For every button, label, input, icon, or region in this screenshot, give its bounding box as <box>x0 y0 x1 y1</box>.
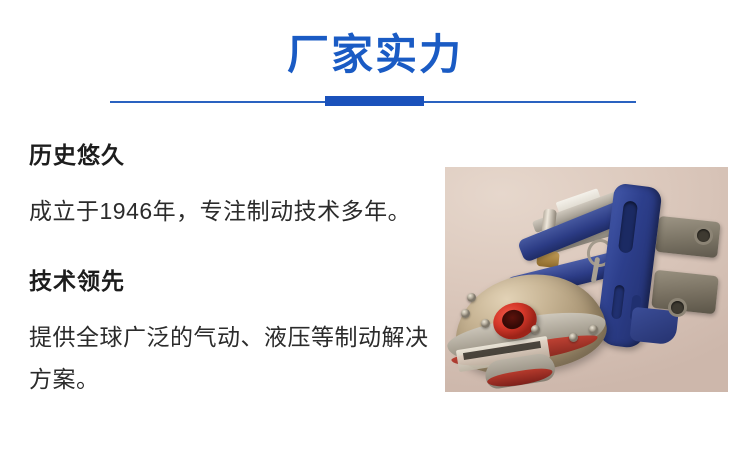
feature-body-technology: 提供全球广泛的气动、液压等制动解决方案。 <box>29 316 444 400</box>
dome-bolt <box>531 325 540 334</box>
feature-block-technology: 技术领先 提供全球广泛的气动、液压等制动解决方案。 <box>29 266 444 400</box>
divider-center-bar <box>325 96 424 106</box>
dome-bolt <box>481 319 490 328</box>
mounting-hole-lower <box>671 301 684 314</box>
mounting-hole-upper <box>697 229 710 242</box>
feature-block-history: 历史悠久 成立于1946年，专注制动技术多年。 <box>29 140 444 232</box>
caliper-mounting-foot <box>629 307 678 346</box>
feature-body-history: 成立于1946年，专注制动技术多年。 <box>29 190 444 232</box>
page-title: 厂家实力 <box>0 30 750 80</box>
product-photo <box>445 167 728 392</box>
feature-list: 历史悠久 成立于1946年，专注制动技术多年。 技术领先 提供全球广泛的气动、液… <box>29 140 444 400</box>
brake-pad-lower <box>651 270 719 314</box>
dome-bolt <box>569 333 578 342</box>
dome-bolt <box>461 309 470 318</box>
dome-bolt <box>467 293 476 302</box>
dome-bolt <box>589 325 598 334</box>
brake-pad-upper <box>655 216 720 258</box>
feature-heading-history: 历史悠久 <box>29 140 444 170</box>
feature-heading-technology: 技术领先 <box>29 266 444 296</box>
